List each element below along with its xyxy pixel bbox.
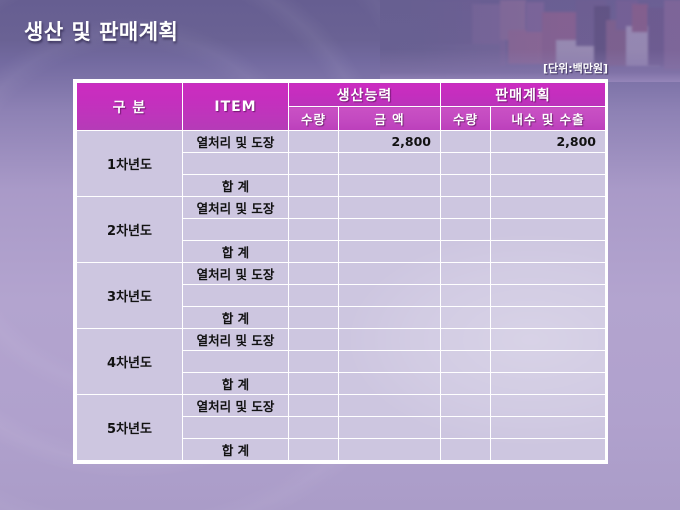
- production-amount-cell: 2,800: [339, 131, 441, 153]
- sales-quantity-cell: [441, 417, 491, 439]
- production-quantity-cell: [289, 417, 339, 439]
- sales-amount-cell: [491, 263, 606, 285]
- sales-amount-cell: [491, 175, 606, 197]
- sales-quantity-cell: [441, 439, 491, 461]
- production-amount-cell: [339, 395, 441, 417]
- item-cell: 열처리 및 도장: [183, 395, 289, 417]
- column-group-header-sales-plan: 판매계획: [441, 83, 606, 107]
- sales-amount-cell: [491, 351, 606, 373]
- sales-quantity-cell: [441, 307, 491, 329]
- year-label-cell: 2차년도: [77, 197, 183, 263]
- year-label-cell: 5차년도: [77, 395, 183, 461]
- item-cell: 열처리 및 도장: [183, 197, 289, 219]
- column-header-item: ITEM: [183, 83, 289, 131]
- production-sales-plan-table: 구 분 ITEM 생산능력 판매계획 수량 금 액 수량 내수 및 수출 1차년…: [76, 82, 606, 461]
- production-quantity-cell: [289, 439, 339, 461]
- sales-amount-cell: [491, 197, 606, 219]
- unit-note-label: [단위:백만원]: [543, 60, 608, 76]
- production-amount-cell: [339, 329, 441, 351]
- sales-quantity-cell: [441, 351, 491, 373]
- production-quantity-cell: [289, 307, 339, 329]
- sales-quantity-cell: [441, 263, 491, 285]
- production-amount-cell: [339, 219, 441, 241]
- year-label-cell: 3차년도: [77, 263, 183, 329]
- column-header-sales-quantity: 수량: [441, 107, 491, 131]
- item-cell: [183, 219, 289, 241]
- production-amount-cell: [339, 373, 441, 395]
- production-quantity-cell: [289, 351, 339, 373]
- sales-quantity-cell: [441, 329, 491, 351]
- production-quantity-cell: [289, 329, 339, 351]
- factory-photo-decoration: [380, 0, 680, 82]
- production-quantity-cell: [289, 241, 339, 263]
- column-header-division: 구 분: [77, 83, 183, 131]
- production-quantity-cell: [289, 197, 339, 219]
- table-header-row-top: 구 분 ITEM 생산능력 판매계획: [77, 83, 606, 107]
- production-quantity-cell: [289, 175, 339, 197]
- sales-quantity-cell: [441, 395, 491, 417]
- sales-amount-cell: [491, 373, 606, 395]
- production-amount-cell: [339, 307, 441, 329]
- item-cell: 합 계: [183, 175, 289, 197]
- production-amount-cell: [339, 175, 441, 197]
- sales-quantity-cell: [441, 241, 491, 263]
- page-title: 생산 및 판매계획: [24, 16, 178, 46]
- column-header-production-amount: 금 액: [339, 107, 441, 131]
- item-cell: [183, 351, 289, 373]
- table-row: 2차년도열처리 및 도장: [77, 197, 606, 219]
- year-label-cell: 4차년도: [77, 329, 183, 395]
- sales-amount-cell: [491, 417, 606, 439]
- item-cell: 열처리 및 도장: [183, 263, 289, 285]
- sales-quantity-cell: [441, 373, 491, 395]
- sales-quantity-cell: [441, 285, 491, 307]
- item-cell: [183, 285, 289, 307]
- column-group-header-production-capacity: 생산능력: [289, 83, 441, 107]
- production-quantity-cell: [289, 153, 339, 175]
- production-quantity-cell: [289, 285, 339, 307]
- item-cell: 합 계: [183, 373, 289, 395]
- sales-amount-cell: [491, 329, 606, 351]
- table-row: 3차년도열처리 및 도장: [77, 263, 606, 285]
- table-row: 5차년도열처리 및 도장: [77, 395, 606, 417]
- sales-quantity-cell: [441, 153, 491, 175]
- production-amount-cell: [339, 241, 441, 263]
- sales-amount-cell: [491, 395, 606, 417]
- sales-amount-cell: [491, 219, 606, 241]
- production-amount-cell: [339, 417, 441, 439]
- sales-quantity-cell: [441, 175, 491, 197]
- item-cell: 열처리 및 도장: [183, 329, 289, 351]
- production-quantity-cell: [289, 395, 339, 417]
- item-cell: [183, 417, 289, 439]
- sales-quantity-cell: [441, 131, 491, 153]
- item-cell: [183, 153, 289, 175]
- production-amount-cell: [339, 439, 441, 461]
- sales-amount-cell: 2,800: [491, 131, 606, 153]
- year-label-cell: 1차년도: [77, 131, 183, 197]
- production-amount-cell: [339, 153, 441, 175]
- production-amount-cell: [339, 285, 441, 307]
- sales-amount-cell: [491, 285, 606, 307]
- table-body: 1차년도열처리 및 도장2,8002,800합 계2차년도열처리 및 도장합 계…: [77, 131, 606, 461]
- item-cell: 합 계: [183, 307, 289, 329]
- sales-amount-cell: [491, 153, 606, 175]
- sales-amount-cell: [491, 439, 606, 461]
- production-amount-cell: [339, 197, 441, 219]
- production-quantity-cell: [289, 131, 339, 153]
- production-quantity-cell: [289, 263, 339, 285]
- table-row: 4차년도열처리 및 도장: [77, 329, 606, 351]
- table-row: 1차년도열처리 및 도장2,8002,800: [77, 131, 606, 153]
- item-cell: 합 계: [183, 241, 289, 263]
- item-cell: 합 계: [183, 439, 289, 461]
- column-header-sales-domestic-export: 내수 및 수출: [491, 107, 606, 131]
- production-quantity-cell: [289, 373, 339, 395]
- slide-canvas: 생산 및 판매계획 [단위:백만원] 구 분 ITEM 생산능력 판매계획: [0, 0, 680, 510]
- item-cell: 열처리 및 도장: [183, 131, 289, 153]
- sales-amount-cell: [491, 241, 606, 263]
- production-amount-cell: [339, 351, 441, 373]
- column-header-production-quantity: 수량: [289, 107, 339, 131]
- production-sales-plan-table-container: 구 분 ITEM 생산능력 판매계획 수량 금 액 수량 내수 및 수출 1차년…: [73, 79, 608, 464]
- production-amount-cell: [339, 263, 441, 285]
- sales-quantity-cell: [441, 219, 491, 241]
- sales-amount-cell: [491, 307, 606, 329]
- table-header: 구 분 ITEM 생산능력 판매계획 수량 금 액 수량 내수 및 수출: [77, 83, 606, 131]
- production-quantity-cell: [289, 219, 339, 241]
- sales-quantity-cell: [441, 197, 491, 219]
